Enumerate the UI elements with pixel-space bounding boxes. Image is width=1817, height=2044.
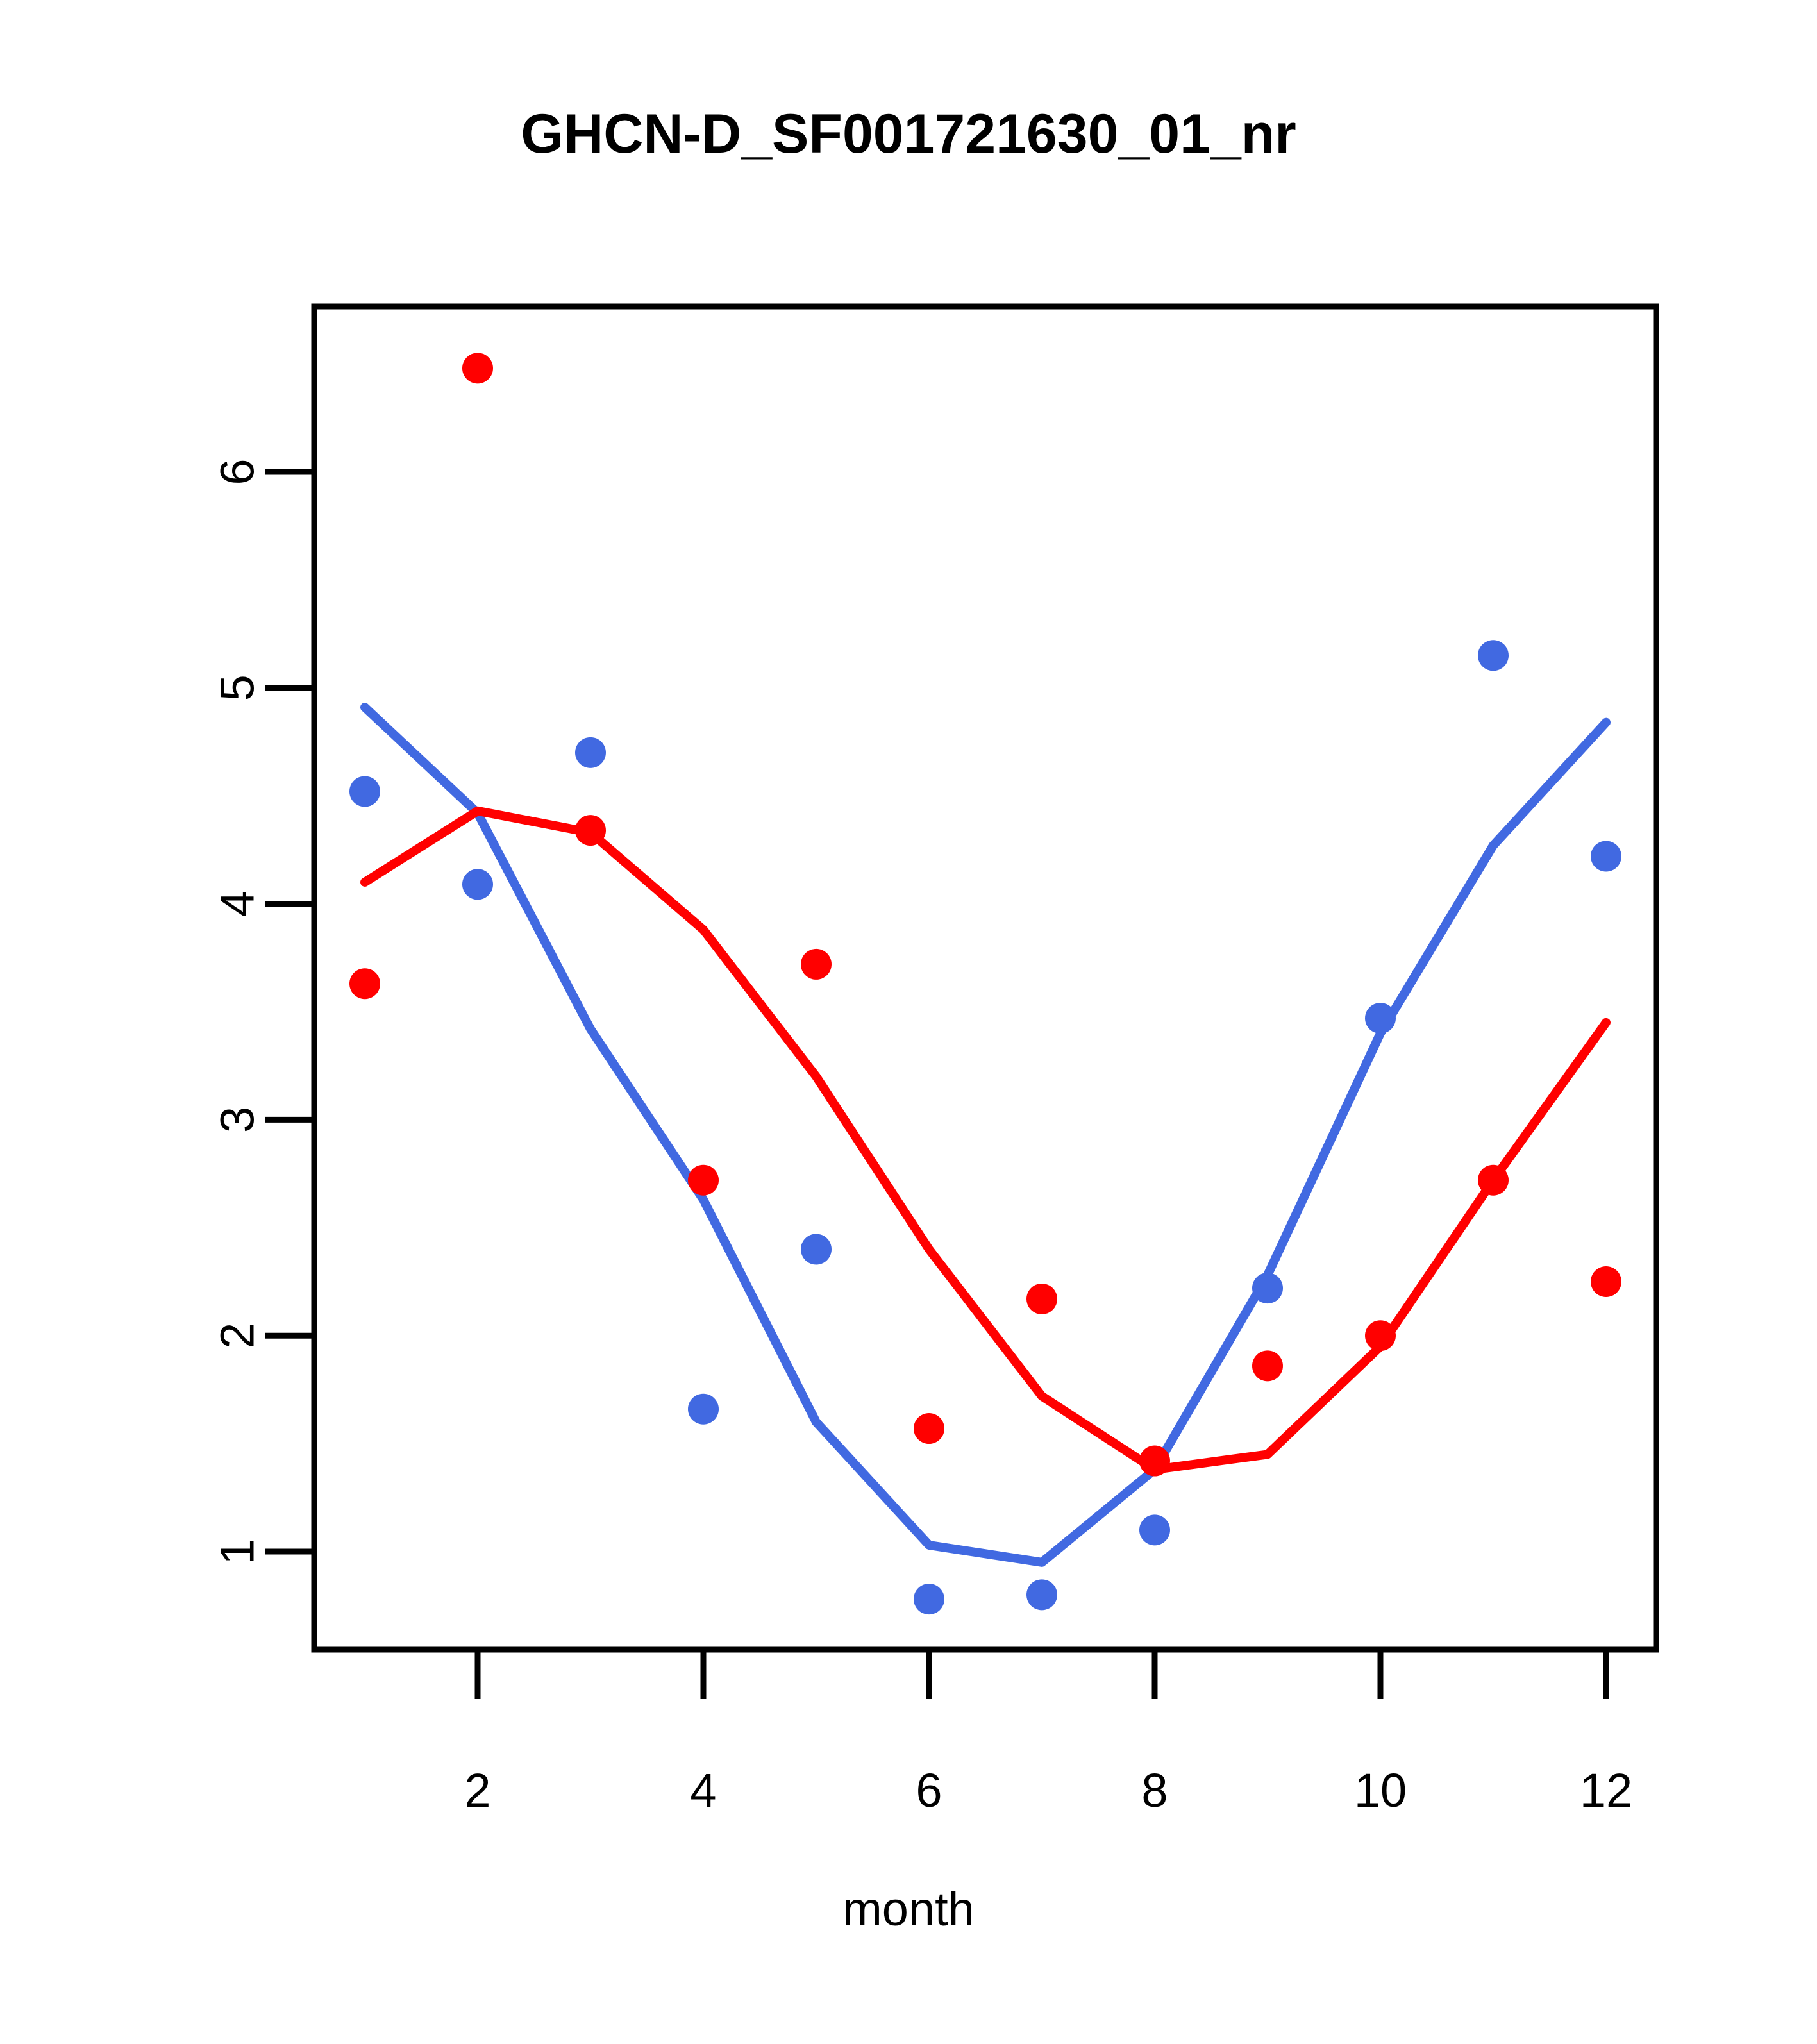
y-tick-label: 4 bbox=[211, 891, 264, 917]
data-point bbox=[801, 949, 832, 980]
data-point bbox=[575, 815, 606, 846]
data-point bbox=[801, 1234, 832, 1264]
data-point bbox=[1365, 1003, 1396, 1034]
plot-area: 24681012 123456 bbox=[0, 0, 1817, 2044]
data-point bbox=[462, 869, 493, 900]
data-point bbox=[349, 776, 380, 807]
x-tick-label: 4 bbox=[690, 1764, 716, 1817]
y-tick-label: 3 bbox=[211, 1107, 264, 1133]
data-point bbox=[1478, 640, 1509, 671]
data-point bbox=[349, 968, 380, 999]
y-axis-tick-labels: 123456 bbox=[211, 458, 264, 1564]
x-tick-label: 12 bbox=[1580, 1764, 1632, 1817]
data-point bbox=[914, 1413, 944, 1444]
data-point bbox=[1478, 1165, 1509, 1196]
data-point bbox=[1026, 1579, 1057, 1610]
data-point bbox=[1252, 1350, 1283, 1381]
x-tick-label: 8 bbox=[1141, 1764, 1168, 1817]
data-point bbox=[688, 1394, 719, 1425]
data-point bbox=[575, 737, 606, 768]
x-axis-tick-labels: 24681012 bbox=[464, 1764, 1632, 1817]
data-point bbox=[688, 1165, 719, 1196]
data-point bbox=[1139, 1514, 1170, 1545]
x-axis bbox=[478, 1650, 1606, 1699]
data-point bbox=[914, 1584, 944, 1614]
data-point bbox=[1591, 1266, 1621, 1297]
blue-points bbox=[349, 640, 1621, 1614]
x-tick-label: 6 bbox=[916, 1764, 942, 1817]
series-layer bbox=[349, 353, 1621, 1614]
red-points bbox=[349, 353, 1621, 1476]
x-tick-label: 2 bbox=[464, 1764, 490, 1817]
red-line bbox=[365, 811, 1606, 1470]
y-tick-label: 2 bbox=[211, 1323, 264, 1349]
x-axis-label: month bbox=[0, 1882, 1817, 1936]
plot-frame bbox=[314, 306, 1656, 1650]
data-point bbox=[1139, 1446, 1170, 1477]
data-point bbox=[462, 353, 493, 383]
x-tick-label: 10 bbox=[1354, 1764, 1407, 1817]
blue-line bbox=[365, 707, 1606, 1562]
y-tick-label: 5 bbox=[211, 674, 264, 701]
y-axis bbox=[265, 472, 314, 1552]
y-tick-label: 1 bbox=[211, 1538, 264, 1564]
data-point bbox=[1591, 841, 1621, 872]
figure-canvas: GHCN-D_SF001721630_01_nr 24681012 123456… bbox=[0, 0, 1817, 2044]
y-tick-label: 6 bbox=[211, 458, 264, 485]
data-point bbox=[1252, 1273, 1283, 1303]
data-point bbox=[1365, 1320, 1396, 1351]
data-point bbox=[1026, 1284, 1057, 1314]
